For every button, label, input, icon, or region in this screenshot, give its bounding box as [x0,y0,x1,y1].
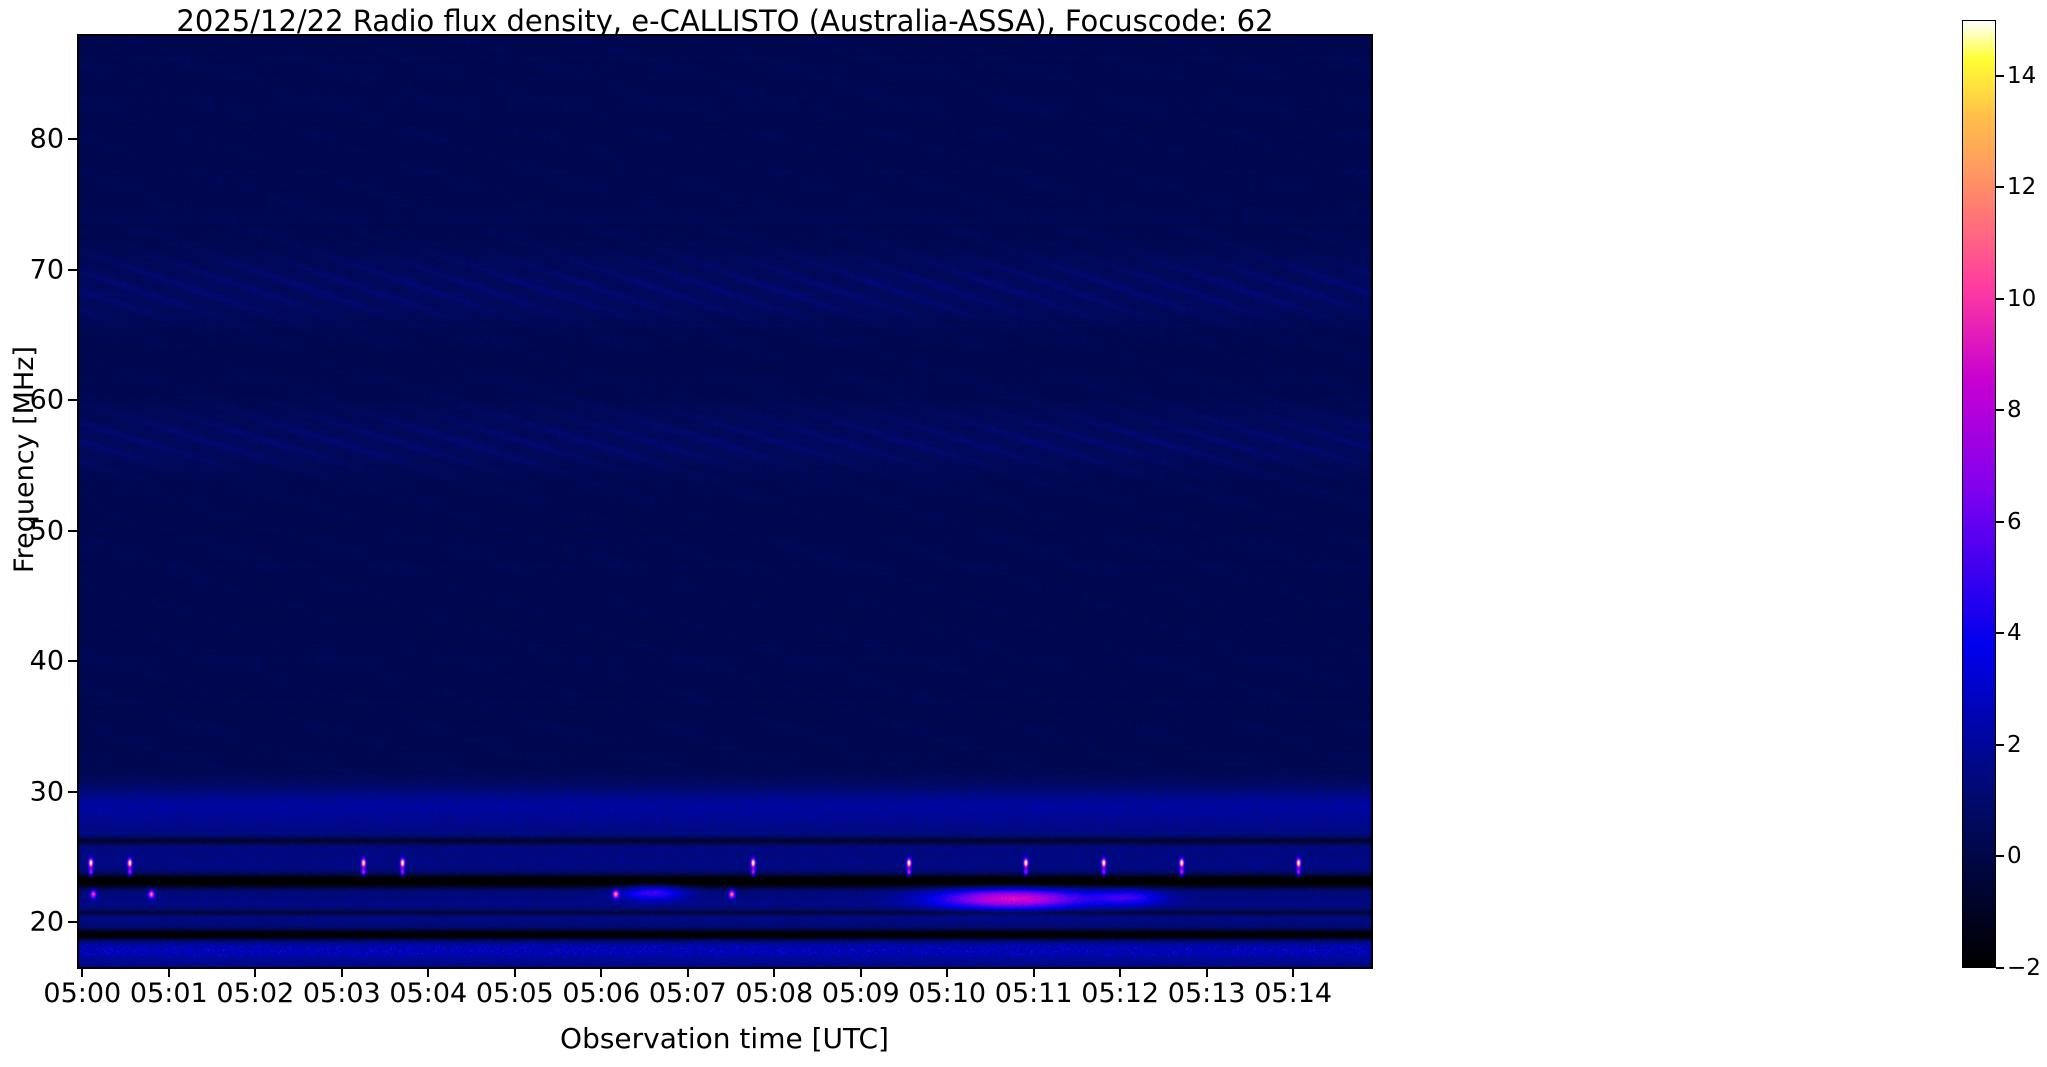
x-tick-mark [1119,968,1121,977]
x-tick-mark [860,968,862,977]
x-tick-mark [1033,968,1035,977]
axis-spine-top [77,34,1373,36]
colorbar-tick-mark [1996,409,2004,411]
x-tick-label: 05:14 [1213,978,1373,1009]
x-tick-mark [514,968,516,977]
colorbar-tick-mark [1996,744,2004,746]
colorbar-tick-mark [1996,298,2004,300]
colorbar-tick-label: −2 [2007,955,2047,981]
y-tick-mark [68,791,77,793]
x-axis-label: Observation time [UTC] [78,1022,1371,1055]
colorbar-tick-label: 10 [2007,286,2047,312]
axis-spine-right [1371,34,1373,969]
y-tick-mark [68,530,77,532]
colorbar-tick-label: 2 [2007,732,2047,758]
y-tick-label: 30 [0,776,64,807]
axis-spine-left [77,34,79,969]
colorbar-tick-mark [1996,521,2004,523]
x-tick-mark [81,968,83,977]
colorbar-tick-mark [1996,967,2004,969]
colorbar-tick-mark [1996,632,2004,634]
y-tick-label: 20 [0,907,64,938]
colorbar-tick-mark [1996,855,2004,857]
x-tick-mark [168,968,170,977]
y-tick-mark [68,660,77,662]
page-title: 2025/12/22 Radio flux density, e-CALLIST… [0,4,1450,38]
colorbar-tick-label: 14 [2007,63,2047,89]
x-tick-mark [254,968,256,977]
colorbar-tick-mark [1996,75,2004,77]
colorbar [1962,20,1996,968]
x-tick-mark [341,968,343,977]
x-tick-mark [687,968,689,977]
x-tick-mark [1292,968,1294,977]
x-tick-mark [427,968,429,977]
y-tick-label: 40 [0,646,64,677]
y-tick-mark [68,921,77,923]
spectrogram-image [78,35,1371,968]
colorbar-tick-label: 12 [2007,174,2047,200]
colorbar-tick-label: 6 [2007,509,2047,535]
y-tick-mark [68,399,77,401]
y-tick-label: 50 [0,515,64,546]
axis-spine-bottom [77,967,1373,969]
y-tick-mark [68,269,77,271]
y-tick-label: 80 [0,124,64,155]
y-tick-label: 70 [0,254,64,285]
x-tick-mark [1206,968,1208,977]
colorbar-tick-label: 0 [2007,843,2047,869]
colorbar-tick-label: 4 [2007,620,2047,646]
x-tick-mark [600,968,602,977]
x-tick-mark [773,968,775,977]
colorbar-tick-mark [1996,186,2004,188]
x-tick-mark [946,968,948,977]
colorbar-tick-label: 8 [2007,397,2047,423]
y-tick-label: 60 [0,385,64,416]
y-tick-mark [68,138,77,140]
